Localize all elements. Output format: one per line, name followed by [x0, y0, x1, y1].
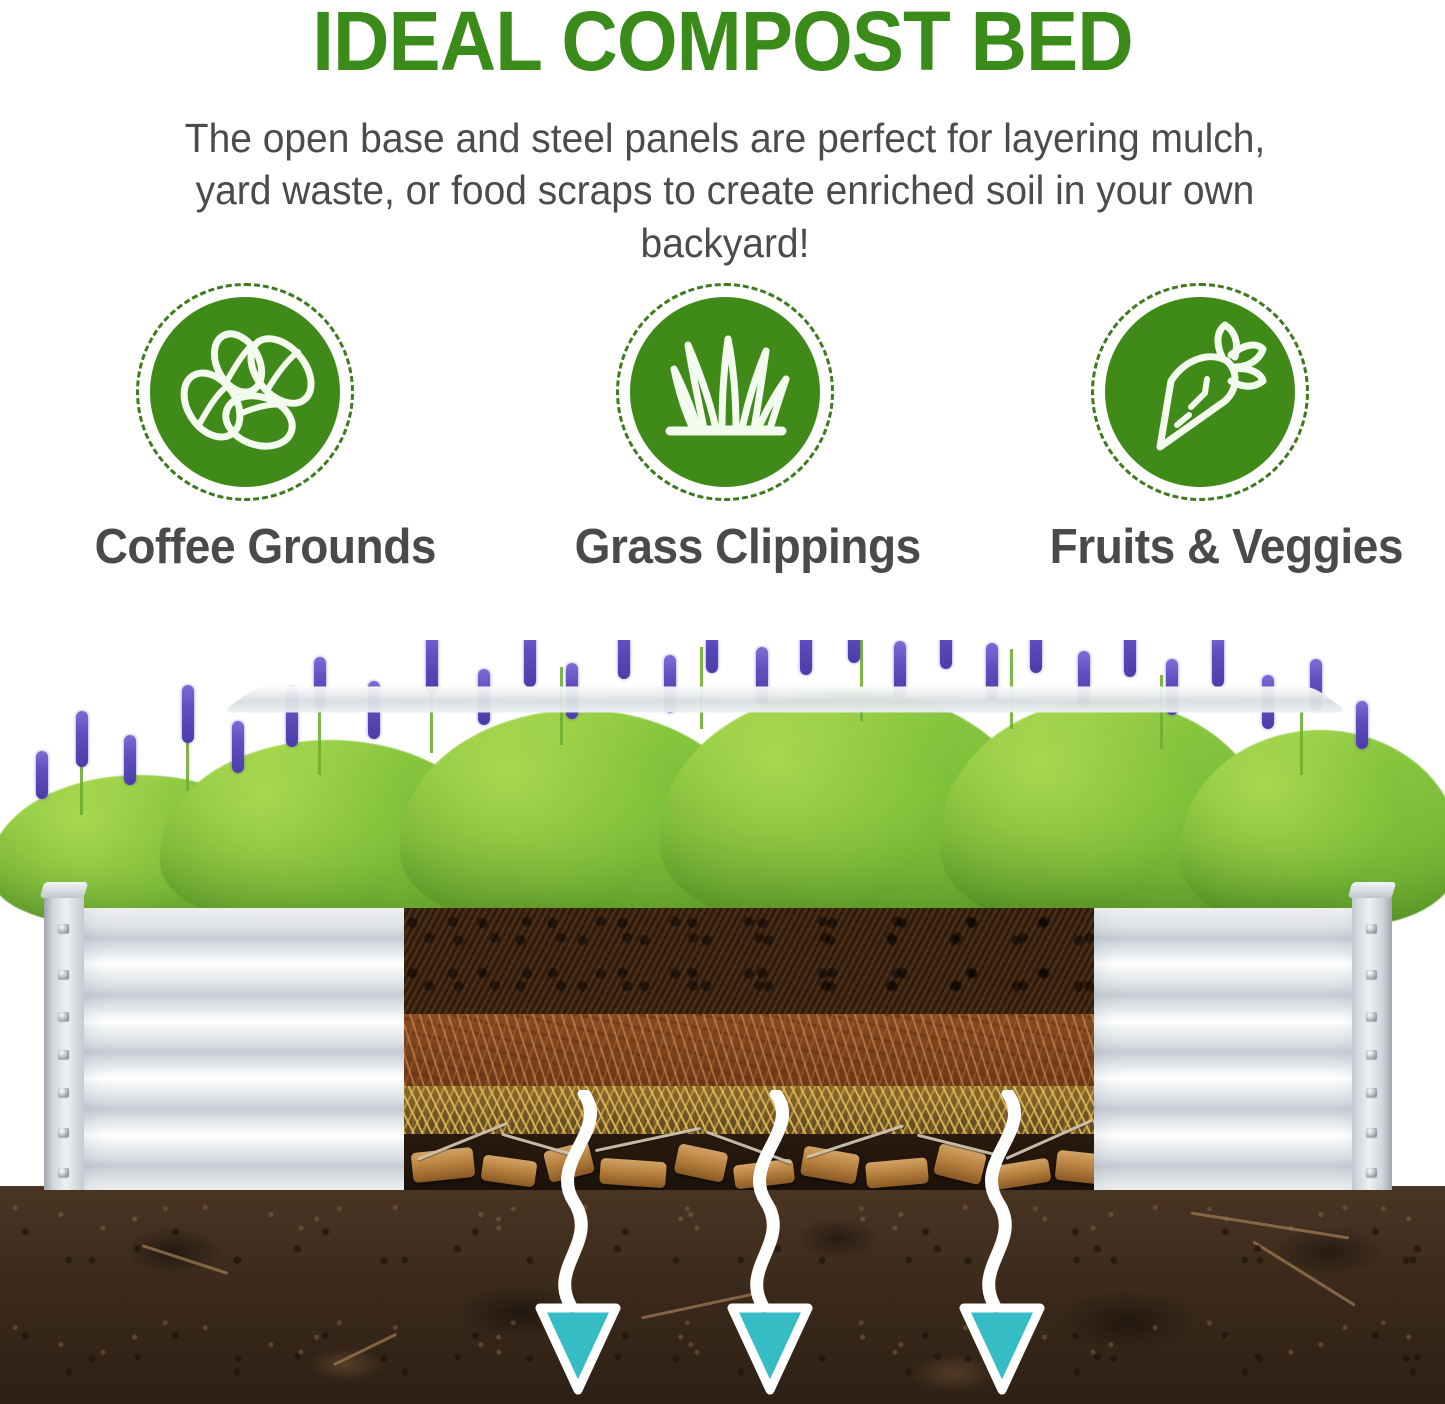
raised-bed-frame — [22, 892, 1394, 1190]
coffee-beans-icon — [150, 297, 340, 487]
badge-label: Fruits & Veggies — [1050, 519, 1351, 575]
badge-label: Coffee Grounds — [95, 519, 396, 575]
badge-circle — [616, 283, 834, 501]
bed-top-rim — [221, 686, 1348, 712]
steel-panel-right — [1094, 908, 1362, 1190]
steel-panel-left — [82, 908, 427, 1190]
badge-circle — [136, 283, 354, 501]
product-photo-raised-bed — [0, 600, 1445, 1404]
page-subtitle: The open base and steel panels are perfe… — [184, 112, 1267, 269]
badge-fruits-veggies: Fruits & Veggies — [1040, 283, 1360, 575]
infographic-page: IDEAL COMPOST BED The open base and stee… — [0, 0, 1445, 1404]
lavender-plants — [0, 640, 1445, 925]
carrot-icon — [1105, 297, 1295, 487]
layer-mulch — [404, 1014, 1094, 1086]
page-title: IDEAL COMPOST BED — [51, 0, 1395, 87]
badge-coffee-grounds: Coffee Grounds — [85, 283, 405, 575]
badge-label: Grass Clippings — [575, 519, 876, 575]
badge-grass-clippings: Grass Clippings — [565, 283, 885, 575]
post-cap — [40, 882, 89, 898]
corner-post-right — [1352, 892, 1392, 1190]
soil-cross-section — [404, 908, 1094, 1190]
layer-straw — [404, 1086, 1094, 1134]
compost-material-badges: Coffee Grounds — [0, 283, 1445, 573]
ground-soil — [0, 1186, 1445, 1404]
corner-post-left — [44, 892, 84, 1190]
grass-clippings-icon — [630, 297, 820, 487]
badge-circle — [1091, 283, 1309, 501]
post-cap — [1348, 882, 1397, 898]
layer-logs — [404, 1134, 1094, 1190]
layer-compost — [404, 908, 1094, 1014]
